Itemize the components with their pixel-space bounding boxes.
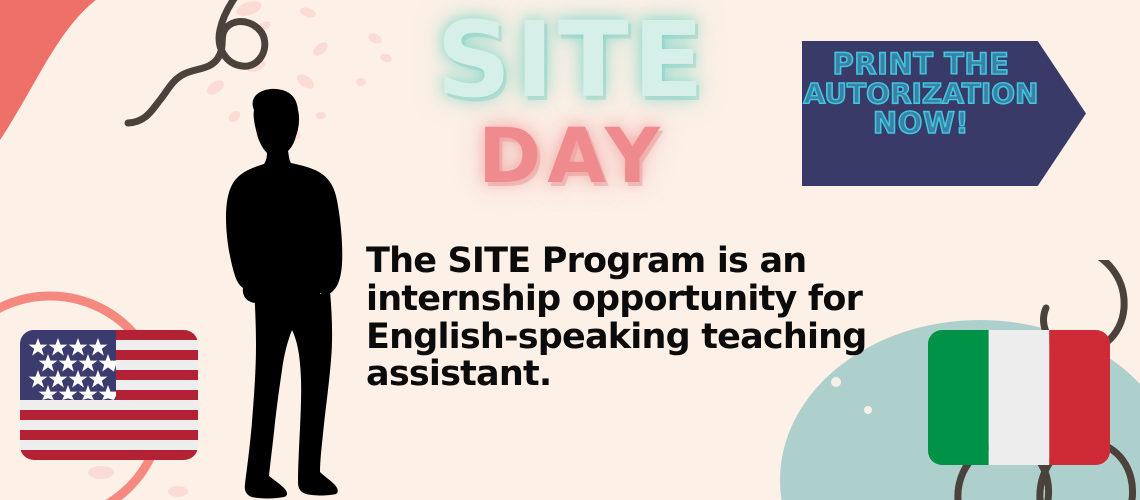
banner-line-1: PRINT THE [802, 50, 1040, 80]
headline-site: SITE [372, 8, 772, 112]
headline-day: DAY [372, 118, 772, 194]
man-silhouette [196, 88, 366, 500]
body-paragraph: The SITE Program is an internship opport… [366, 243, 906, 394]
pink-dots-decoration [0, 0, 420, 220]
pink-dot-decoration-2 [168, 486, 188, 497]
banner-text: PRINT THE AUTORIZATION NOW! [802, 50, 1040, 139]
headline-block: SITE DAY [372, 8, 772, 194]
italy-flag-icon [928, 330, 1110, 465]
pink-dot-decoration [88, 466, 114, 479]
banner-line-3: NOW! [802, 109, 1040, 139]
us-flag-icon [20, 330, 198, 460]
squiggle-line-decoration [60, 0, 360, 190]
print-authorization-banner[interactable]: PRINT THE AUTORIZATION NOW! [802, 41, 1086, 186]
poster-canvas: SITE DAY The SITE Program is an internsh… [0, 0, 1140, 500]
banner-line-2: AUTORIZATION [802, 80, 1040, 109]
